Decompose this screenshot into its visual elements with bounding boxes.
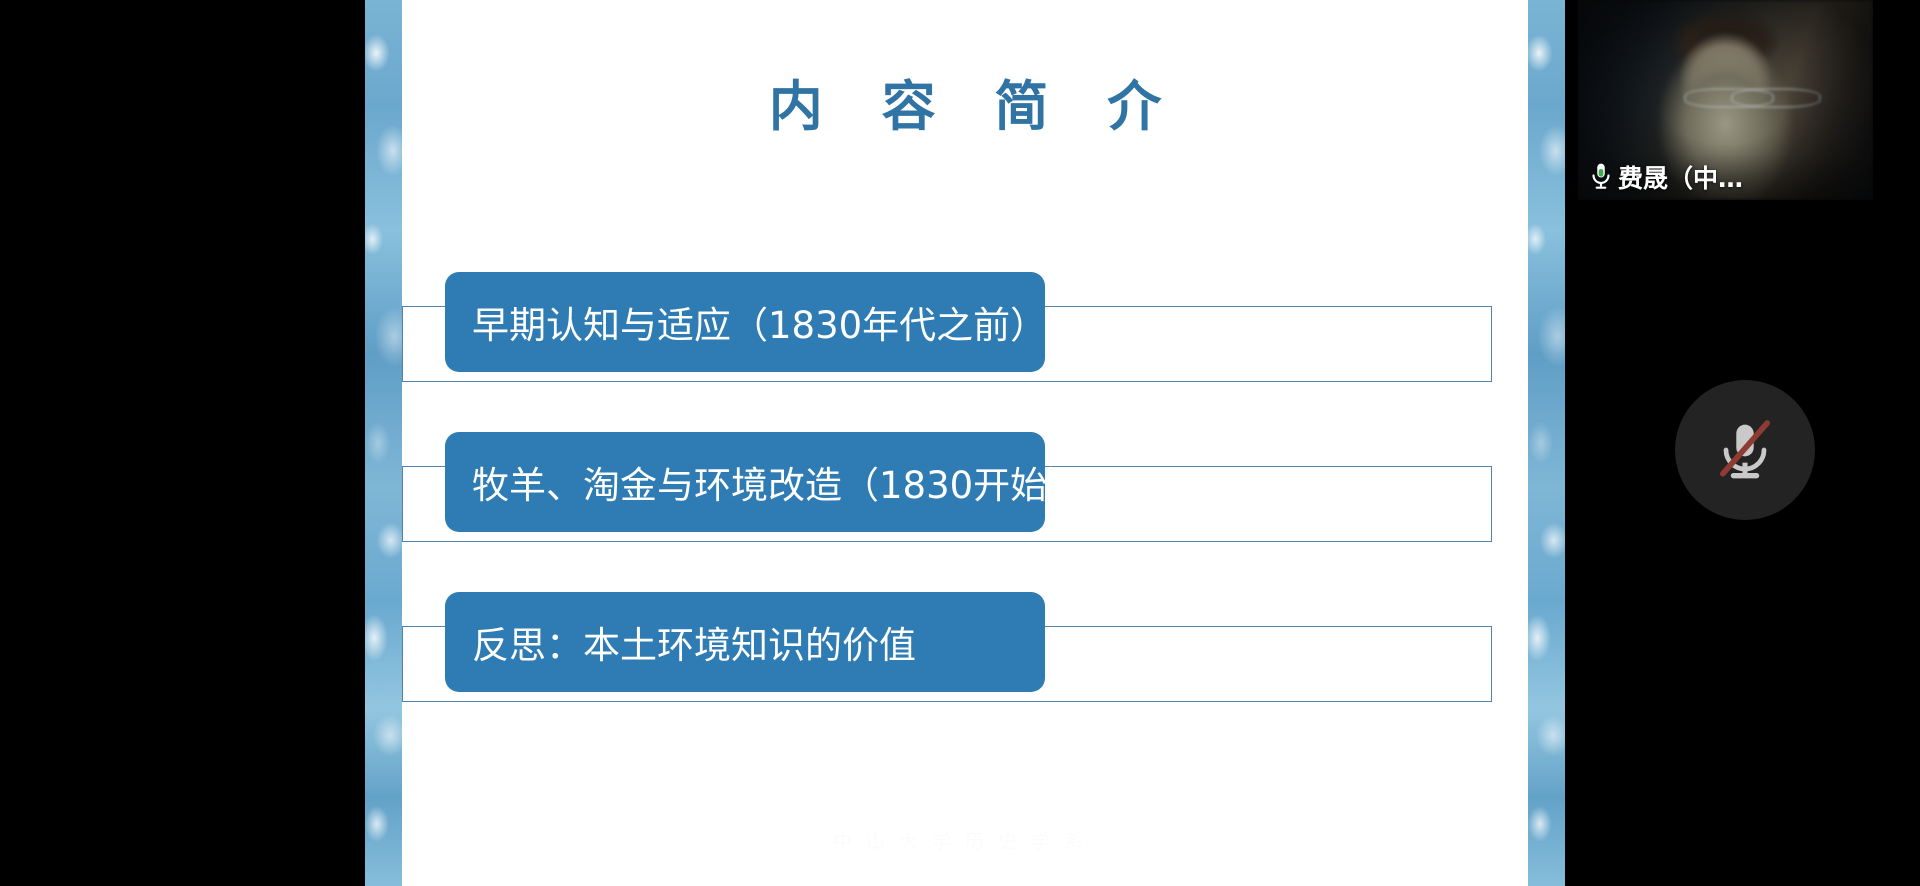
smartart-chip: 牧羊、淘金与环境改造（1830开始） — [445, 432, 1045, 532]
microphone-icon — [1588, 162, 1614, 192]
shared-screen-slide[interactable]: 内 容 简 介 早期认知与适应（1830年代之前） 牧羊、淘金与环境改造（183… — [365, 0, 1565, 886]
participant-name-bar: 费晟（中… — [1578, 154, 1873, 200]
smartart-row: 反思：本土环境知识的价值 — [402, 592, 1528, 752]
smartart-row: 牧羊、淘金与环境改造（1830开始） — [402, 432, 1528, 592]
smartart-chip-label: 反思：本土环境知识的价值 — [472, 615, 916, 669]
slide-smartart-group: 早期认知与适应（1830年代之前） 牧羊、淘金与环境改造（1830开始） 反思：… — [402, 0, 1528, 886]
slide-footer-watermark: 中山大学历史学系 — [402, 827, 1528, 854]
participant-name-label: 费晟（中… — [1618, 159, 1743, 195]
smartart-chip-label: 牧羊、淘金与环境改造（1830开始） — [472, 455, 1084, 509]
mute-status-button[interactable] — [1675, 380, 1815, 520]
slide-left-texture-band — [365, 0, 402, 886]
smartart-row: 早期认知与适应（1830年代之前） — [402, 272, 1528, 432]
microphone-muted-icon — [1707, 412, 1783, 488]
slide-right-texture-band — [1528, 0, 1565, 886]
slide-canvas: 内 容 简 介 早期认知与适应（1830年代之前） 牧羊、淘金与环境改造（183… — [402, 0, 1528, 886]
smartart-chip-label: 早期认知与适应（1830年代之前） — [472, 295, 1047, 349]
participants-rail: 费晟（中… — [1565, 0, 1920, 886]
smartart-chip: 反思：本土环境知识的价值 — [445, 592, 1045, 692]
zoom-meeting-screen: 内 容 简 介 早期认知与适应（1830年代之前） 牧羊、淘金与环境改造（183… — [0, 0, 1920, 886]
smartart-chip: 早期认知与适应（1830年代之前） — [445, 272, 1045, 372]
participant-video-tile[interactable]: 费晟（中… — [1578, 0, 1873, 200]
